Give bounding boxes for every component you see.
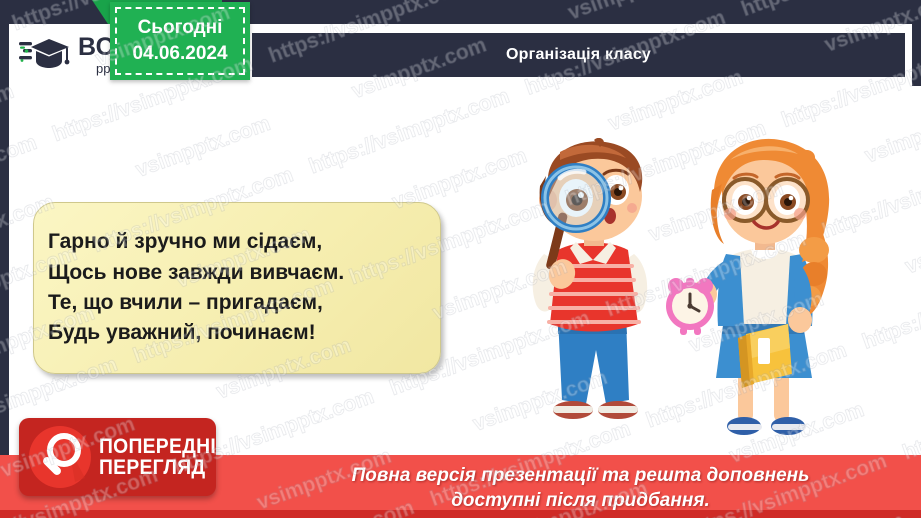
preview-badge-label: ПОПЕРЕДНІЙ ПЕРЕГЛЯД bbox=[99, 436, 216, 479]
purchase-banner-text: Повна версія презентації та решта доповн… bbox=[240, 463, 921, 513]
boy-with-magnifier bbox=[533, 138, 647, 419]
slide-root: ВСІМ pptx Сьогодні 04.06.2024 Організаці… bbox=[0, 0, 921, 518]
graduation-cap-icon bbox=[19, 35, 71, 75]
left-frame-bar bbox=[0, 0, 9, 518]
slide-title-bar: Організація класу bbox=[252, 33, 905, 77]
preview-badge: ПОПЕРЕДНІЙ ПЕРЕГЛЯД bbox=[19, 418, 216, 496]
right-frame-bar bbox=[912, 0, 921, 86]
poem-card: Гарно й зручно ми сідаєм, Щось нове завж… bbox=[33, 202, 441, 374]
page-title: Організація класу bbox=[506, 46, 651, 64]
today-date: 04.06.2024 bbox=[132, 43, 227, 65]
today-label: Сьогодні bbox=[138, 17, 223, 39]
poem-line: Щось нове завжди вивчаєм. bbox=[48, 258, 440, 288]
purchase-banner-line-1: Повна версія презентації та решта доповн… bbox=[240, 463, 921, 488]
poem-line: Гарно й зручно ми сідаєм, bbox=[48, 227, 440, 257]
magnifier-icon bbox=[29, 426, 91, 488]
poem-line: Будь уважний, починаєм! bbox=[48, 318, 440, 348]
two-children-illustration bbox=[498, 138, 894, 450]
preview-badge-line-2: ПЕРЕГЛЯД bbox=[99, 457, 216, 478]
poem-line: Те, що вчили – пригадаєм, bbox=[48, 288, 440, 318]
today-date-badge: Сьогодні 04.06.2024 bbox=[110, 2, 250, 80]
preview-badge-line-1: ПОПЕРЕДНІЙ bbox=[99, 436, 216, 457]
banner-bottom-stripe bbox=[0, 510, 921, 518]
girl-with-alarm-clock bbox=[666, 139, 829, 435]
